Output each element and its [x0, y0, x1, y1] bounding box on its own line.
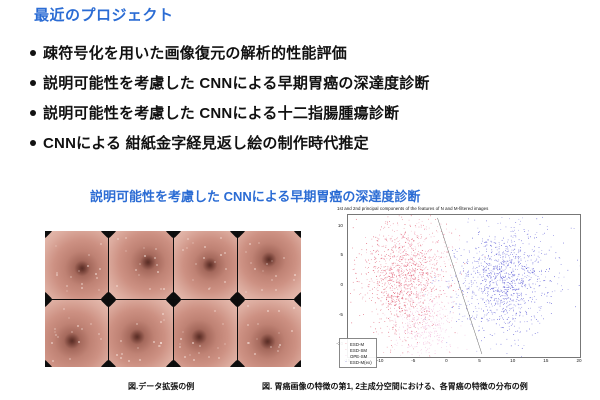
- tissue-texture: [238, 300, 301, 368]
- list-item-label: 疎符号化を用いた画像復元の解析的性能評価: [43, 42, 347, 63]
- endoscopy-image-cell: [45, 300, 108, 368]
- tissue-speck: [120, 340, 122, 342]
- legend-marker-icon: ·: [342, 359, 350, 365]
- tissue-speck: [179, 343, 181, 345]
- tissue-speck: [54, 328, 56, 330]
- figure-caption-left: 図.データ拡張の例: [128, 381, 194, 392]
- x-axis-tick-label: 10: [506, 358, 520, 363]
- x-axis-tick-label: 20: [572, 358, 586, 363]
- tissue-speck: [222, 323, 224, 325]
- y-axis-tick-label: 0: [331, 282, 343, 287]
- tissue-speck: [189, 354, 191, 356]
- tissue-speck: [100, 338, 102, 340]
- tissue-speck: [139, 359, 141, 361]
- endoscopy-image-cell: [109, 300, 172, 368]
- tissue-speck: [275, 289, 277, 291]
- endoscopy-image-cell: [174, 300, 237, 368]
- tissue-speck: [70, 276, 72, 278]
- list-item: 疎符号化を用いた画像復元の解析的性能評価: [30, 42, 530, 63]
- endoscopy-image-cell: [238, 231, 301, 299]
- project-bullet-list: 疎符号化を用いた画像復元の解析的性能評価 説明可能性を考慮した CNNによる早期…: [30, 42, 530, 162]
- tissue-speck: [143, 247, 145, 249]
- chart-plot-area: [347, 214, 581, 358]
- tissue-speck: [271, 279, 273, 281]
- tissue-speck: [88, 254, 90, 256]
- list-item: 説明可能性を考慮した CNNによる十二指腸腫瘍診断: [30, 102, 530, 123]
- x-axis-tick-label: -5: [406, 358, 420, 363]
- tissue-speck: [248, 342, 250, 344]
- chart-legend: ·ESD-M·ESD-SM·OPE-SM·ESD-M(ex): [339, 338, 377, 368]
- chart-title: 1st and 2nd principal components of the …: [337, 206, 488, 211]
- pca-scatter-figure: 1st and 2nd principal components of the …: [331, 206, 593, 372]
- tissue-speck: [266, 263, 268, 265]
- list-item: 説明可能性を考慮した CNNによる早期胃癌の深達度診断: [30, 72, 530, 93]
- tissue-speck: [155, 248, 157, 250]
- tissue-speck: [116, 354, 118, 356]
- y-axis-tick-label: 10: [331, 223, 343, 228]
- tissue-speck: [95, 273, 97, 275]
- tissue-speck: [267, 310, 269, 312]
- legend-item-label: ESD-M(ex): [350, 360, 372, 365]
- endoscopy-image-cell: [45, 231, 108, 299]
- tissue-speck: [96, 277, 98, 279]
- legend-item-label: ESD-SM: [350, 348, 367, 353]
- tissue-speck: [278, 310, 280, 312]
- tissue-speck: [125, 250, 127, 252]
- tissue-speck: [184, 356, 186, 358]
- tissue-speck: [249, 243, 251, 245]
- list-item-label: 説明可能性を考慮した CNNによる十二指腸腫瘍診断: [43, 102, 399, 123]
- tissue-speck: [192, 279, 194, 281]
- tissue-speck: [160, 321, 162, 323]
- tissue-speck: [257, 323, 259, 325]
- endoscopy-image-cell: [174, 231, 237, 299]
- tissue-speck: [56, 272, 58, 274]
- scatter-canvas: [348, 215, 580, 357]
- tissue-speck: [90, 323, 92, 325]
- list-item-label: CNNによる 紺紙金字経見返し絵の制作時代推定: [43, 132, 369, 153]
- tissue-speck: [250, 262, 252, 264]
- bullet-dot-icon: [30, 140, 36, 146]
- tissue-speck: [186, 247, 188, 249]
- tissue-speck: [187, 238, 189, 240]
- tissue-texture: [174, 231, 237, 299]
- legend-item-label: ESD-M: [350, 342, 364, 347]
- tissue-speck: [192, 242, 194, 244]
- endoscopy-image-cell: [238, 300, 301, 368]
- tissue-speck: [139, 263, 141, 265]
- bullet-dot-icon: [30, 50, 36, 56]
- endoscopy-image-cell: [109, 231, 172, 299]
- tissue-speck: [279, 344, 281, 346]
- y-axis-tick-label: -5: [331, 312, 343, 317]
- x-axis-tick-label: 0: [439, 358, 453, 363]
- bullet-dot-icon: [30, 110, 36, 116]
- tissue-speck: [254, 353, 256, 355]
- bullet-dot-icon: [30, 80, 36, 86]
- tissue-speck: [182, 331, 184, 333]
- endoscopy-image-grid: [45, 231, 301, 367]
- tissue-texture: [174, 300, 237, 368]
- tissue-speck: [136, 323, 138, 325]
- tissue-speck: [214, 261, 216, 263]
- tissue-speck: [153, 341, 155, 343]
- list-item-label: 説明可能性を考慮した CNNによる早期胃癌の深達度診断: [43, 72, 430, 93]
- legend-item: ·ESD-M(ex): [342, 359, 372, 365]
- tissue-speck: [100, 243, 102, 245]
- figure-caption-right: 図. 胃癌画像の特徴の第1, 2主成分空間における、各胃癌の特徴の分布の例: [262, 381, 528, 392]
- section-subtitle: 説明可能性を考慮した CNNによる早期胃癌の深達度診断: [90, 186, 420, 205]
- tissue-speck: [51, 342, 53, 344]
- tissue-speck: [52, 360, 54, 362]
- page-title: 最近のプロジェクト: [34, 4, 174, 25]
- x-axis-tick-label: 15: [539, 358, 553, 363]
- tissue-speck: [283, 257, 285, 259]
- tissue-speck: [277, 350, 279, 352]
- tissue-speck: [156, 264, 158, 266]
- tissue-speck: [135, 269, 137, 271]
- tissue-speck: [193, 359, 195, 361]
- x-axis-tick-label: 5: [473, 358, 487, 363]
- tissue-speck: [55, 334, 57, 336]
- tissue-speck: [208, 356, 210, 358]
- y-axis-tick-label: 5: [331, 252, 343, 257]
- tissue-speck: [245, 251, 247, 253]
- tissue-speck: [149, 288, 151, 290]
- tissue-speck: [293, 279, 295, 281]
- tissue-speck: [99, 268, 101, 270]
- tissue-speck: [192, 342, 194, 344]
- list-item: CNNによる 紺紙金字経見返し絵の制作時代推定: [30, 132, 530, 153]
- tissue-texture: [238, 231, 301, 299]
- tissue-speck: [203, 257, 205, 259]
- tissue-texture: [109, 300, 172, 368]
- tissue-speck: [247, 324, 249, 326]
- legend-item-label: OPE-SM: [350, 354, 367, 359]
- tissue-speck: [66, 285, 68, 287]
